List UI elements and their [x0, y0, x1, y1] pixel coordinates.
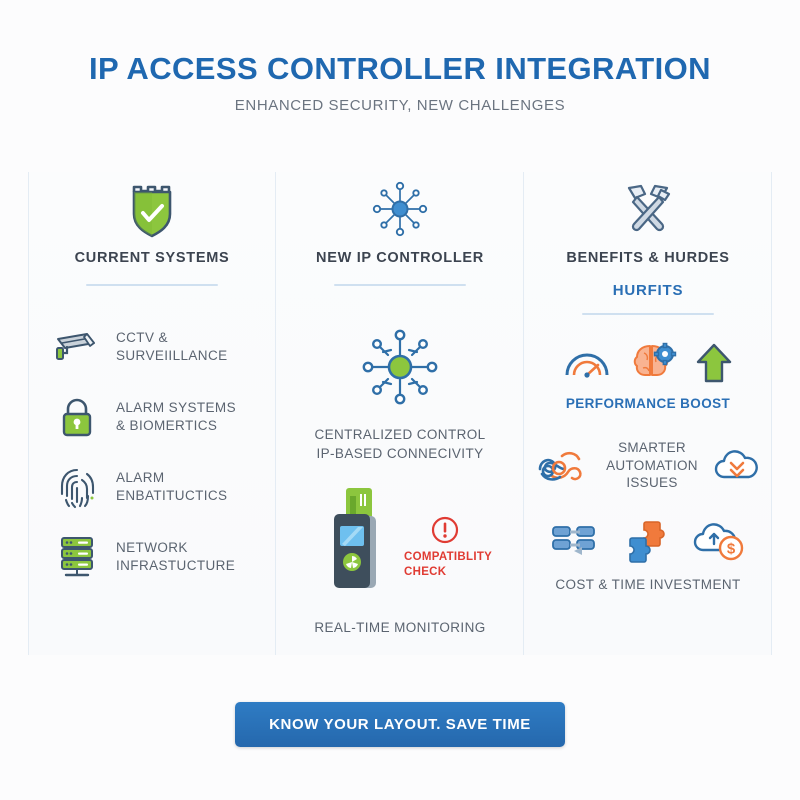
cctv-camera-icon	[54, 330, 100, 364]
tangled-knot-icon	[532, 444, 594, 488]
card-reader-device-icon	[314, 484, 398, 604]
benefits-icon-row-1	[524, 341, 772, 385]
network-hub-icon	[276, 178, 524, 240]
column-new-ip-controller: NEW IP CONTROLLER	[276, 172, 524, 655]
data-sync-icon	[549, 521, 601, 563]
column-benefits-hurdles: BENEFITS & HURDES HURFITS	[524, 172, 772, 655]
list-item: ALARM ENBATITUCTICS	[54, 452, 276, 522]
infographic-page: IP ACCESS CONTROLLER INTEGRATION ENHANCE…	[0, 0, 800, 800]
page-subtitle: ENHANCED SECURITY, NEW CHALLENGES	[0, 97, 800, 114]
column-rule	[582, 313, 714, 315]
padlock-icon	[54, 396, 100, 438]
list-item-label: ALARM SYSTEMS & BIOMERTICS	[116, 399, 236, 435]
shield-check-icon	[28, 178, 276, 240]
column-subtitle-hurfits: HURFITS	[524, 282, 772, 299]
cloud-download-icon	[710, 446, 764, 486]
list-item: CCTV & SURVEIILLANCE	[54, 312, 276, 382]
list-item: ALARM SYSTEMS & BIOMERTICS	[54, 382, 276, 452]
puzzle-pieces-icon	[619, 518, 671, 566]
list-item-label: NETWORK INFRASTUCTURE	[116, 539, 235, 575]
column-rule	[334, 284, 466, 286]
benefits-icon-row-3: $	[524, 518, 772, 566]
column-title-new-ip-controller: NEW IP CONTROLLER	[276, 250, 524, 266]
network-hub-green-icon	[276, 322, 524, 412]
alert-circle-icon	[430, 515, 460, 545]
device-row: COMPATIBLITY CHECK	[276, 484, 524, 604]
device-caption: REAL-TIME MONITORING	[276, 620, 524, 635]
benefits-label-smarter-automation: SMARTER AUTOMATION ISSUES	[600, 439, 704, 492]
column-title-benefits-hurdles: BENEFITS & HURDES	[524, 250, 772, 266]
speedometer-icon	[563, 343, 611, 383]
benefits-label-cost-time: COST & TIME INVESTMENT	[524, 576, 772, 594]
server-rack-icon	[54, 535, 100, 579]
benefits-icon-row-2: SMARTER AUTOMATION ISSUES	[524, 439, 772, 492]
columns-panel: CURRENT SYSTEMS CCTV & SURVEIILLANCE	[28, 172, 772, 655]
cta-button[interactable]: KNOW YOUR LAYOUT. SAVE TIME	[235, 702, 565, 747]
list-item-label: ALARM ENBATITUCTICS	[116, 469, 227, 505]
list-item: NETWORK INFRASTUCTURE	[54, 522, 276, 592]
column-title-current-systems: CURRENT SYSTEMS	[28, 250, 276, 266]
list-item-label: CCTV & SURVEIILLANCE	[116, 329, 228, 365]
benefits-label-performance: PERFORMANCE BOOST	[524, 395, 772, 413]
column-rule	[86, 284, 218, 286]
svg-text:$: $	[727, 541, 736, 558]
brain-gear-icon	[629, 341, 677, 385]
current-systems-list: CCTV & SURVEIILLANCE ALARM SYSTEMS & BIO…	[28, 312, 276, 592]
fingerprint-icon	[54, 465, 100, 509]
compatibility-warning-text: COMPATIBLITY CHECK	[404, 550, 486, 580]
page-title: IP ACCESS CONTROLLER INTEGRATION	[0, 52, 800, 86]
hammers-icon	[524, 178, 772, 240]
compatibility-warning: COMPATIBLITY CHECK	[404, 515, 486, 580]
hub-caption: CENTRALIZED CONTROL IP-BASED CONNECIVITY	[276, 426, 524, 464]
column-current-systems: CURRENT SYSTEMS CCTV & SURVEIILLANCE	[28, 172, 276, 655]
header: IP ACCESS CONTROLLER INTEGRATION ENHANCE…	[0, 52, 800, 114]
cloud-dollar-icon: $	[689, 520, 747, 564]
up-arrow-icon	[695, 342, 733, 384]
cta-wrapper: KNOW YOUR LAYOUT. SAVE TIME	[0, 702, 800, 747]
